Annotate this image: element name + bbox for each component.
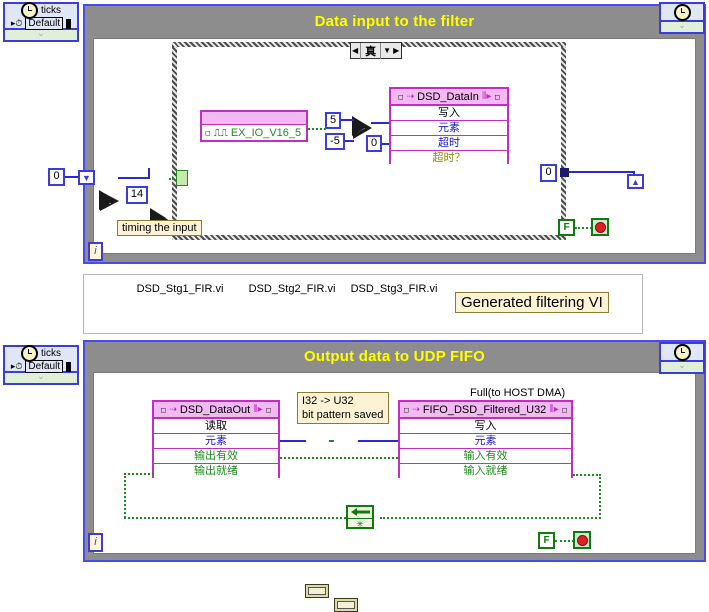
wire-fifo-ready-down (599, 474, 601, 519)
wire-range-to-datain (371, 122, 389, 124)
chevron-down-icon[interactable]: ⌄ (5, 373, 77, 380)
conversion-glyph-icon (337, 601, 355, 609)
feedback-arrow-icon (349, 507, 373, 517)
dsd-datain-header: ◻ ⇢ DSD_DataIn ⦀▸ ◻ (391, 89, 507, 106)
top-left-timing-node-body: ⌄ (3, 30, 79, 42)
top-loop-title: Data input to the filter (85, 6, 704, 30)
increment-function[interactable]: +1 (99, 190, 119, 210)
range-high-constant[interactable]: 5 (325, 112, 341, 129)
wire-out-right (569, 171, 635, 173)
top-loop-titlebar: Data input to the filter (85, 6, 704, 38)
wire-ready-to-feedback (380, 517, 601, 519)
stopwatch-icon: ▸⏱ (11, 18, 23, 29)
dsd-dataout-header: ◻ ⇢ DSD_DataOut ⦀▸ ◻ (154, 402, 278, 419)
top-right-timing-node-body: ⌄ (659, 22, 705, 34)
top-loop-output-tunnel[interactable]: ▲ (627, 174, 644, 189)
timing-node-ticks-row: ticks (5, 4, 77, 17)
fifo-row-input-ready[interactable]: 输入就绪 (400, 464, 571, 478)
ex-io-node-header (202, 112, 306, 125)
select-zero-constant[interactable]: 0 (366, 135, 382, 152)
wire-false-to-stop-bottom (555, 540, 574, 542)
range-low-constant[interactable]: -5 (325, 133, 345, 150)
top-left-timing-node[interactable]: ticks ▸⏱ Default (3, 2, 79, 30)
fifo-dma-label: Full(to HOST DMA) (470, 387, 565, 399)
wire-range-low (345, 140, 354, 142)
fifo-node-title: FIFO_DSD_Filtered_U32 (423, 404, 547, 416)
svg-text:+1: +1 (102, 197, 112, 206)
ref-out-terminal-icon: ◻ (562, 406, 568, 414)
wire-branch-up (148, 168, 150, 179)
wire-fifo-ready-right (573, 474, 601, 476)
terminal-icon: ◻ (205, 129, 211, 137)
bottom-left-timing-node[interactable]: ticks ▸⏱ Default (3, 345, 79, 373)
wire-feedback-out-left (124, 517, 346, 519)
chevron-down-icon[interactable]: ⌄ (661, 362, 703, 369)
ref-in-terminal-icon: ◻ (161, 406, 167, 414)
conversion-comment: I32 -> U32 bit pattern saved (297, 392, 389, 424)
timing-node-terminal (66, 362, 71, 372)
feedback-arrow-row (348, 507, 372, 519)
increment-icon: +1 (99, 190, 121, 212)
top-iteration-terminal: i (88, 242, 103, 261)
method-arrow-icon: ⇢ (169, 404, 177, 415)
dsd-datain-row-write[interactable]: 写入 (391, 106, 507, 121)
fifo-node[interactable]: ◻ ⇢ FIFO_DSD_Filtered_U32 ⦀▸ ◻ 写入 元素 输入有… (398, 400, 573, 478)
wire-exio-out (308, 128, 326, 130)
timing-comment: timing the input (117, 220, 202, 236)
wire-range-high (341, 119, 354, 121)
clock-icon (21, 345, 38, 362)
compare-constant[interactable]: 14 (126, 186, 148, 204)
chevron-down-icon[interactable]: ⌄ (661, 22, 703, 29)
method-arrow-icon: ⇢ (412, 404, 420, 415)
wire-conv-link (329, 440, 334, 442)
case-selector[interactable]: ◀ 真 ▼ ▶ (350, 42, 402, 59)
case-prev-arrow[interactable]: ◀ (352, 46, 358, 55)
dsd-datain-row-timedout[interactable]: 超时？ (391, 151, 507, 165)
method-glyph-icon: ⦀▸ (549, 404, 558, 415)
wire-inc-out (118, 177, 150, 179)
top-stop-button[interactable] (591, 218, 609, 236)
left-shift-register[interactable]: ▼ (78, 170, 95, 185)
dsd-dataout-row-read[interactable]: 读取 (154, 419, 278, 434)
ref-out-terminal-icon: ◻ (266, 406, 272, 414)
stopwatch-icon: ▸⏱ (11, 361, 23, 372)
dsd-datain-row-timeout[interactable]: 超时 (391, 136, 507, 151)
waveform-icon: ⎍⎍ (214, 128, 228, 139)
case-selector-terminal (176, 170, 188, 186)
bottom-left-timing-node-body: ⌄ (3, 373, 79, 385)
bottom-stop-button[interactable] (573, 531, 591, 549)
ref-in-terminal-icon: ◻ (398, 93, 404, 101)
dsd-dataout-row-element[interactable]: 元素 (154, 434, 278, 449)
right-shift-register[interactable] (560, 168, 569, 177)
method-glyph-icon: ⦀▸ (253, 404, 262, 415)
init-zero-constant[interactable]: 0 (48, 168, 65, 186)
conversion-comment-line1: I32 -> U32 (302, 394, 384, 408)
case-next-arrow[interactable]: ▶ (393, 46, 399, 55)
bottom-false-constant[interactable]: F (538, 532, 555, 549)
case-dropdown-arrow[interactable]: ▼ (383, 46, 391, 55)
ex-io-node-label: EX_IO_V16_5 (231, 127, 301, 139)
clock-icon (21, 2, 38, 19)
fifo-row-write[interactable]: 写入 (400, 419, 571, 434)
dsd-datain-title: DSD_DataIn (417, 91, 479, 103)
wire-feedback-left-up (124, 473, 126, 518)
subvi-label-1: DSD_Stg1_FIR.vi (125, 283, 235, 295)
dsd-datain-node[interactable]: ◻ ⇢ DSD_DataIn ⦀▸ ◻ 写入 元素 超时 超时？ (389, 87, 509, 164)
bottom-right-timing-node[interactable] (659, 342, 705, 362)
generated-filtering-note: Generated filtering VI (455, 292, 609, 313)
wire-conv-to-fifo (358, 440, 398, 442)
wire-to-dataout-ready (124, 473, 154, 475)
dsd-dataout-title: DSD_DataOut (180, 404, 250, 416)
output-zero-constant[interactable]: 0 (540, 164, 557, 182)
case-selector-value[interactable]: 真 (360, 43, 381, 59)
dsd-datain-row-element[interactable]: 元素 (391, 121, 507, 136)
conversion-glyph-icon (308, 587, 326, 595)
timing-ticks-label: ticks (41, 5, 61, 16)
stop-button-icon (595, 222, 606, 233)
subvi-label-3: DSD_Stg3_FIR.vi (339, 283, 449, 295)
feedback-initializer-icon: ✳ (348, 519, 372, 529)
stop-button-icon (577, 535, 588, 546)
dsd-dataout-row-output-ready[interactable]: 输出就绪 (154, 464, 278, 478)
wire-false-to-stop (575, 227, 592, 229)
bottom-iteration-terminal: i (88, 533, 103, 552)
bottom-loop-title: Output data to UDP FIFO (85, 342, 704, 365)
tunnel-up-icon: ▲ (631, 177, 640, 187)
ref-in-terminal-icon: ◻ (403, 406, 409, 414)
ref-out-terminal-icon: ◻ (494, 93, 500, 101)
timing-ticks-label: ticks (41, 348, 61, 359)
bottom-right-timing-node-body: ⌄ (659, 362, 705, 374)
to-u32-conversion-node[interactable] (334, 598, 358, 612)
subvi-label-2: DSD_Stg2_FIR.vi (237, 283, 347, 295)
conversion-comment-line2: bit pattern saved (302, 408, 384, 422)
top-false-constant[interactable]: F (558, 219, 575, 236)
to-i32-conversion-node[interactable] (305, 584, 329, 598)
wire-output-valid (280, 457, 398, 459)
fifo-row-input-valid[interactable]: 输入有效 (400, 449, 571, 464)
clock-icon (674, 4, 691, 21)
top-right-timing-node[interactable] (659, 2, 705, 22)
method-arrow-icon: ⇢ (407, 91, 415, 102)
ex-io-node[interactable]: ◻ ⎍⎍ EX_IO_V16_5 (200, 110, 308, 142)
shift-register-icon: ▼ (82, 173, 91, 183)
chevron-down-icon[interactable]: ⌄ (5, 30, 77, 37)
ex-io-node-body: ◻ ⎍⎍ EX_IO_V16_5 (202, 125, 306, 141)
timing-node-terminal (66, 19, 71, 29)
method-glyph-icon: ⦀▸ (482, 91, 491, 102)
dsd-dataout-node[interactable]: ◻ ⇢ DSD_DataOut ⦀▸ ◻ 读取 元素 输出有效 输出就绪 (152, 400, 280, 478)
feedback-node[interactable]: ✳ (346, 505, 374, 529)
wire-element-to-conv (280, 440, 306, 442)
fifo-node-header: ◻ ⇢ FIFO_DSD_Filtered_U32 ⦀▸ ◻ (400, 402, 571, 419)
clock-icon (674, 344, 691, 361)
fifo-row-element[interactable]: 元素 (400, 434, 571, 449)
dsd-dataout-row-output-valid[interactable]: 输出有效 (154, 449, 278, 464)
timing-node-ticks-row: ticks (5, 347, 77, 360)
bottom-loop-titlebar: Output data to UDP FIFO (85, 342, 704, 372)
